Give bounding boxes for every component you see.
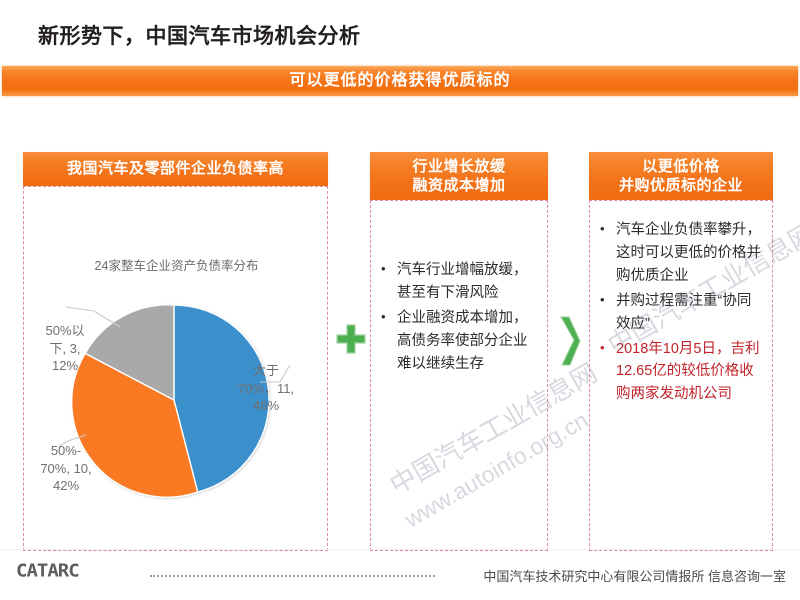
footer-label: 中国汽车技术研究中心有限公司情报所 信息咨询一室 — [483, 566, 786, 585]
pie-label-orange-line1: 50%- — [51, 443, 81, 458]
panel-left-body: 24家整车企业资产负债率分布 — [23, 186, 328, 551]
panel-left-header: 我国汽车及零部件企业负债率高 — [23, 152, 328, 186]
panel-right-header: 以更低价格 并购优质标的企业 — [589, 152, 773, 200]
pie-label-blue-line1: 大于 — [253, 363, 279, 378]
pie-label-gray: 50%以 下, 3, 12% — [32, 322, 98, 375]
pie-label-blue-line3: 46% — [253, 398, 279, 413]
section-banner: 可以更低的价格获得优质标的 — [2, 66, 798, 96]
catarc-logo: CATARC — [16, 561, 79, 582]
chart-title: 24家整车企业资产负债率分布 — [24, 255, 329, 274]
panel-middle-body: 汽车行业增幅放缓，甚至有下滑风险 企业融资成本增加，高债务率使部分企业难以继续生… — [370, 200, 548, 551]
pie-label-orange-line3: 42% — [53, 478, 79, 493]
list-item: 并购过程需注重“协同效应” — [598, 290, 762, 336]
section-banner-label: 可以更低的价格获得优质标的 — [2, 66, 798, 96]
list-item: 汽车企业负债率攀升，这时可以更低的价格并购优质企业 — [598, 219, 762, 288]
panel-right-bullet-list: 汽车企业负债率攀升，这时可以更低的价格并购优质企业 并购过程需注重“协同效应” … — [590, 201, 772, 418]
list-item: 企业融资成本增加，高债务率使部分企业难以继续生存 — [379, 307, 537, 376]
plus-icon — [336, 324, 366, 354]
panel-right-body: 汽车企业负债率攀升，这时可以更低的价格并购优质企业 并购过程需注重“协同效应” … — [589, 200, 773, 551]
pie-label-blue: 大于 70%，11, 46% — [220, 362, 312, 415]
panel-right-header-line1: 以更低价格 — [619, 157, 743, 176]
panel-middle-bullet-list: 汽车行业增幅放缓，甚至有下滑风险 企业融资成本增加，高债务率使部分企业难以继续生… — [371, 201, 547, 388]
slide-canvas: 新形势下，中国汽车市场机会分析 可以更低的价格获得优质标的 我国汽车及零部件企业… — [0, 0, 800, 600]
pie-chart: 24家整车企业资产负债率分布 — [24, 187, 329, 552]
pie-label-gray-line2: 下, 3, — [49, 341, 80, 356]
pie-label-orange: 50%- 70%, 10, 42% — [30, 442, 102, 495]
panel-right-header-line2: 并购优质标的企业 — [619, 176, 743, 195]
pie-label-blue-line2: 70%，11, — [238, 381, 294, 396]
pie-label-gray-line3: 12% — [52, 358, 78, 373]
footer-divider — [0, 549, 800, 550]
list-item: 汽车行业增幅放缓，甚至有下滑风险 — [379, 259, 537, 305]
panel-middle-header-line2: 融资成本增加 — [412, 176, 505, 195]
chevron-right-icon — [556, 315, 582, 367]
pie-label-orange-line2: 70%, 10, — [40, 461, 91, 476]
pie-label-gray-line1: 50%以 — [45, 323, 84, 338]
panel-left-header-label: 我国汽车及零部件企业负债率高 — [67, 159, 284, 178]
footer-dotted-rule — [150, 575, 435, 578]
list-item-highlight: 2018年10月5日，吉利12.65亿的较低价格收购两家发动机公司 — [598, 338, 762, 407]
panel-middle-header: 行业增长放缓 融资成本增加 — [370, 152, 548, 200]
panel-middle-header-line1: 行业增长放缓 — [412, 157, 505, 176]
page-title: 新形势下，中国汽车市场机会分析 — [38, 20, 361, 50]
